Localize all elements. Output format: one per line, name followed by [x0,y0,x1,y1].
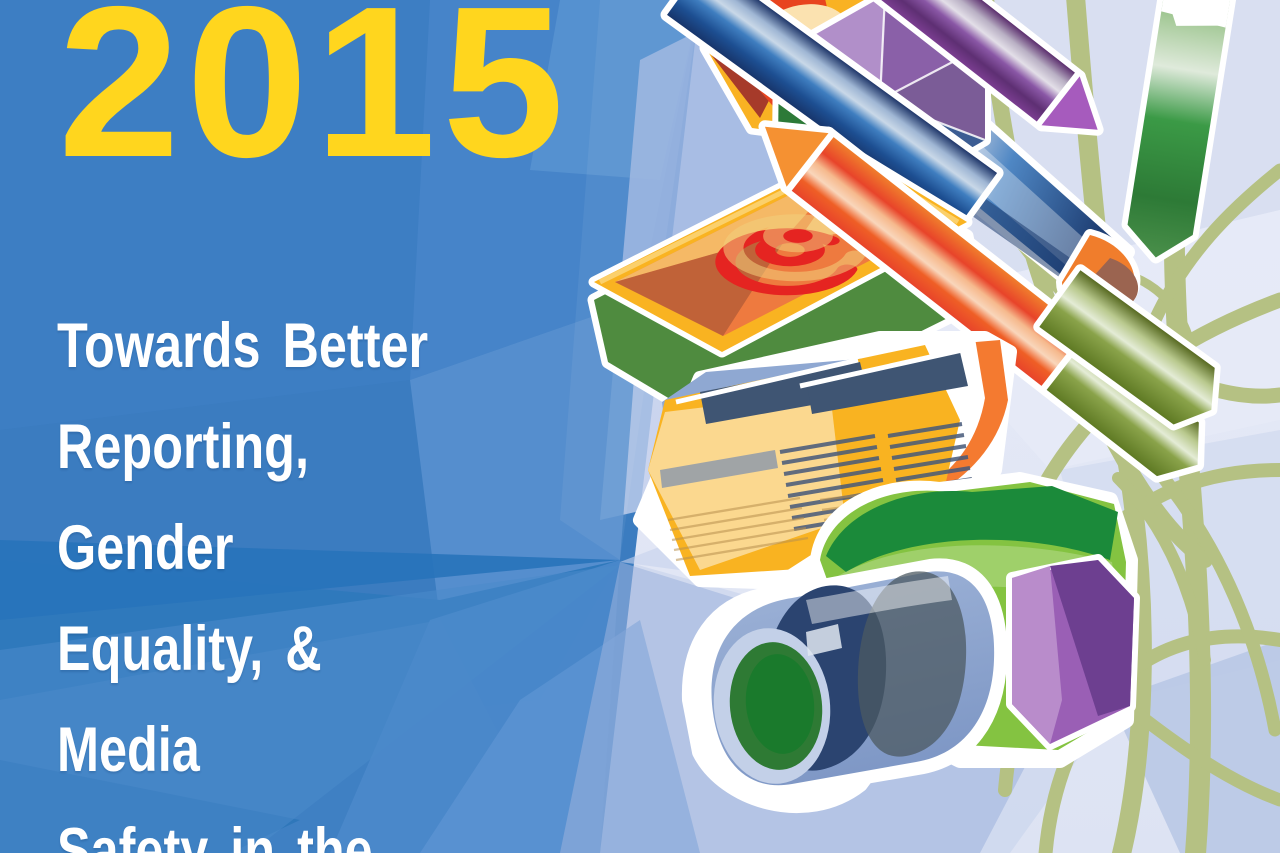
poster-illustration [0,0,1280,853]
poster-canvas: 2015 Towards Better Reporting, Gender Eq… [0,0,1280,853]
